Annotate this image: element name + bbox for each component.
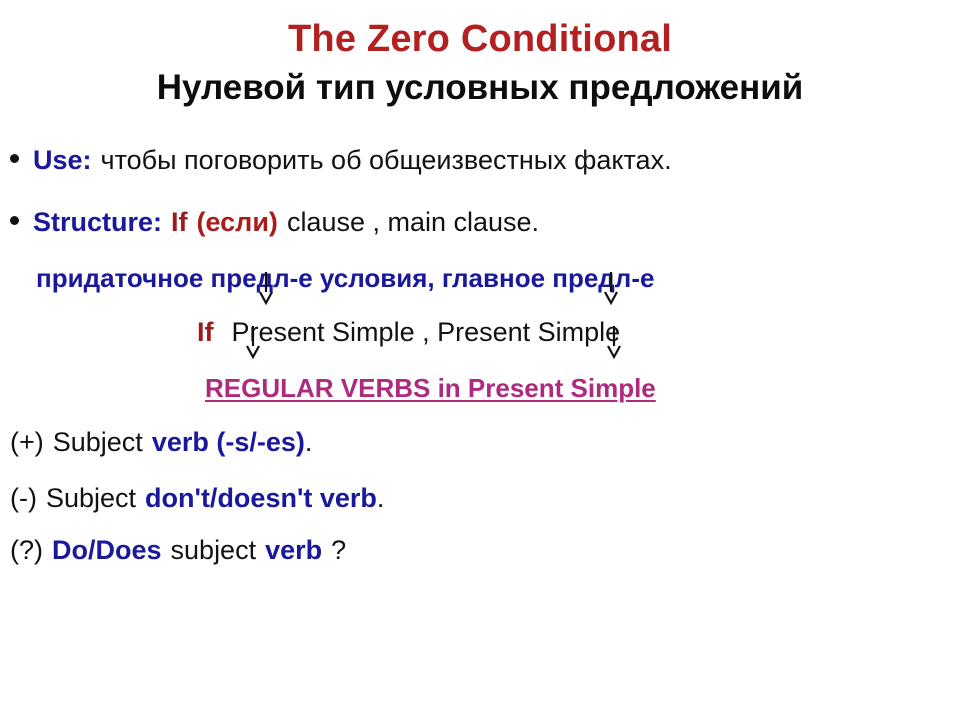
structure-if-translation: (если): [197, 207, 278, 237]
question-auxiliary: Do/Does: [52, 535, 162, 565]
page-title: The Zero Conditional: [0, 18, 960, 61]
negative-period: .: [377, 483, 385, 513]
question-mark: ?: [331, 535, 346, 565]
positive-marker: (+): [10, 427, 44, 457]
positive-subject: Subject: [53, 427, 143, 457]
formula-tenses: Present Simple , Present Simple: [232, 317, 621, 347]
structure-label: Structure:: [33, 207, 162, 237]
structure-if: If: [171, 207, 188, 237]
question-marker: (?): [10, 535, 43, 565]
pattern-negative: (-)Subjectdon't/doesn't verb.: [10, 484, 384, 514]
structure-rest: clause , main clause.: [287, 207, 539, 237]
bullet-dot-icon: [10, 216, 19, 225]
negative-subject: Subject: [46, 483, 136, 513]
page-subtitle: Нулевой тип условных предложений: [0, 68, 960, 108]
if-tense-formula: IfPresent Simple , Present Simple: [197, 318, 620, 348]
russian-clause-text: придаточное предл-е условия, главное пре…: [36, 263, 654, 293]
question-verb: verb: [265, 535, 322, 565]
negative-marker: (-): [10, 483, 37, 513]
negative-verb: don't/doesn't verb: [145, 483, 377, 513]
question-subject: subject: [171, 535, 257, 565]
pattern-question: (?)Do/Doessubjectverb?: [10, 536, 346, 566]
bullet-use: Use:чтобы поговорить об общеизвестных фа…: [10, 146, 672, 176]
use-text: чтобы поговорить об общеизвестных фактах…: [101, 145, 672, 175]
use-label: Use:: [33, 145, 92, 175]
regular-verbs-note: REGULAR VERBS in Present Simple: [205, 374, 656, 403]
formula-if: If: [197, 317, 214, 347]
slide-canvas: The Zero Conditional Нулевой тип условны…: [0, 0, 960, 720]
positive-period: .: [305, 427, 313, 457]
russian-clause-labels: придаточное предл-е условия, главное пре…: [36, 264, 654, 293]
positive-verb: verb (-s/-es): [152, 427, 305, 457]
pattern-positive: (+)Subjectverb (-s/-es).: [10, 428, 312, 458]
bullet-structure: Structure:If(если)clause , main clause.: [10, 208, 539, 238]
regular-verbs-text: REGULAR VERBS in Present Simple: [205, 373, 656, 403]
bullet-dot-icon: [10, 154, 19, 163]
